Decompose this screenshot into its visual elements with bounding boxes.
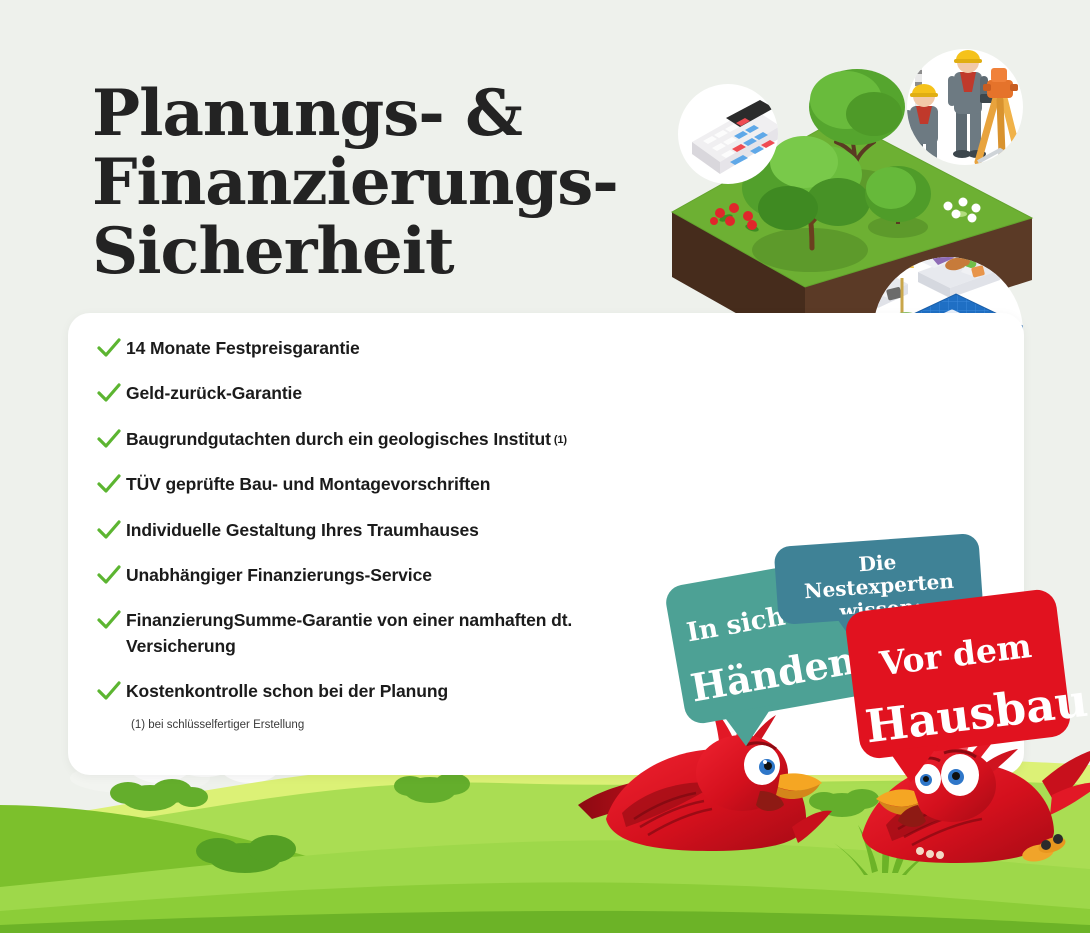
list-item: Geld-zurück-Garantie <box>96 381 676 406</box>
check-icon <box>96 428 126 452</box>
check-icon <box>96 337 126 361</box>
bubble-line-2: Hausbau. <box>863 680 1063 751</box>
list-item-label: 14 Monate Festpreisgarantie <box>126 336 360 361</box>
list-item-label: Geld-zurück-Garantie <box>126 381 302 406</box>
footnote-marker: (1) <box>554 434 567 446</box>
check-icon <box>96 680 126 704</box>
bubble-line-1: Vor dem <box>856 625 1055 684</box>
bubble-tail <box>889 745 943 785</box>
list-item: Individuelle Gestaltung Ihres Traumhause… <box>96 518 676 543</box>
list-item: Unabhängiger Finanzierungs-Service <box>96 563 676 588</box>
list-item-label: Individuelle Gestaltung Ihres Traumhause… <box>126 518 479 543</box>
bubble-line-2: Händen... <box>688 637 869 709</box>
speech-bubble-before: Vor dem Hausbau. <box>844 588 1072 761</box>
footnote-text: (1) bei schlüsselfertiger Erstellung <box>131 719 304 731</box>
check-icon <box>96 473 126 497</box>
list-item: FinanzierungSumme-Garantie von einer nam… <box>96 608 616 659</box>
page-title: Planungs- & Finanzierungs- Sicherheit <box>92 79 712 286</box>
list-item: Baugrundgutachten durch ein geologisches… <box>96 427 676 452</box>
infographic-canvas: Planungs- & Finanzierungs- Sicherheit <box>0 0 1090 933</box>
list-item-label: Baugrundgutachten durch ein geologisches… <box>126 427 567 452</box>
list-item-label: TÜV geprüfte Bau- und Montagevorschrifte… <box>126 472 490 497</box>
surveyors-badge <box>904 49 1023 176</box>
benefits-list: 14 Monate Festpreisgarantie Geld-zurück-… <box>96 336 676 704</box>
list-item-label: FinanzierungSumme-Garantie von einer nam… <box>126 608 616 659</box>
check-icon <box>96 609 126 633</box>
check-icon <box>96 519 126 543</box>
check-icon <box>96 382 126 406</box>
list-item: TÜV geprüfte Bau- und Montagevorschrifte… <box>96 472 676 497</box>
list-item-label: Kostenkontrolle schon bei der Planung <box>126 679 448 704</box>
list-item: 14 Monate Festpreisgarantie <box>96 336 676 361</box>
list-item-label: Unabhängiger Finanzierungs-Service <box>126 563 432 588</box>
check-icon <box>96 564 126 588</box>
